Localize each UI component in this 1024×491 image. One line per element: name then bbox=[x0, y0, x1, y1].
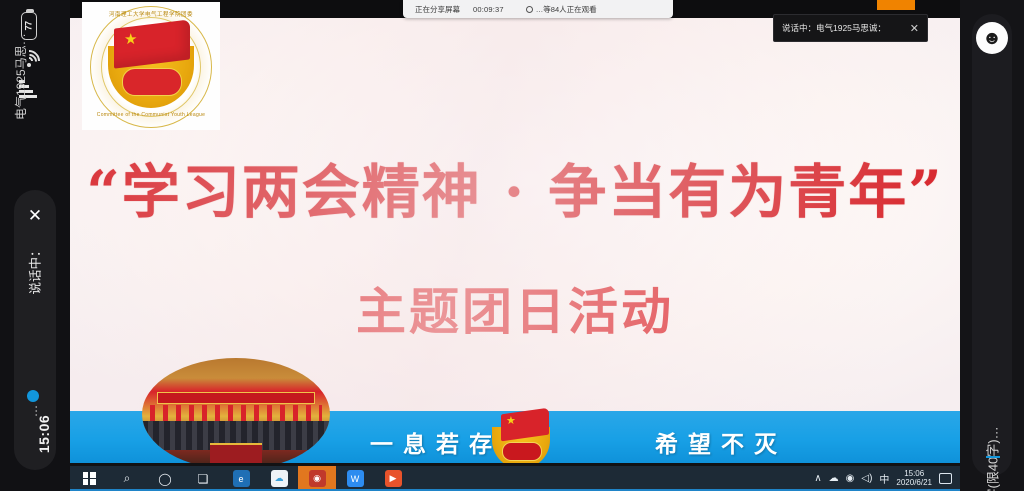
comment-right-sidebar: 输入文字(限40字)… ☻ bbox=[960, 0, 1024, 491]
windows-taskbar: ⌕ ◯ ❏ e ☁ ◉ W ▶ ∧ ☁ ◉ ◁) 中 15:06 2020/6/… bbox=[70, 466, 960, 491]
text-caret bbox=[986, 456, 1000, 458]
taskbar-app-player[interactable]: ▶ bbox=[374, 466, 412, 491]
speaker-name-label: 电气1925马思… bbox=[12, 0, 29, 120]
wechat-work-icon: W bbox=[347, 470, 364, 487]
cortana-icon: ◯ bbox=[158, 472, 171, 486]
phone-clock: 15:06 bbox=[36, 394, 52, 474]
emblem-chinese-text: 河南理工大学电气工程学院团委 bbox=[82, 10, 220, 18]
slide-main-title: “学习两会精神 · 争当有为青年” bbox=[70, 145, 960, 229]
chevron-up-icon[interactable]: ∧ bbox=[814, 473, 821, 484]
clock-date: 2020/6/21 bbox=[896, 479, 932, 488]
viewers-label: …等84人正在观看 bbox=[536, 4, 597, 15]
cloud-tray-icon[interactable]: ☁ bbox=[829, 473, 839, 484]
taskbar-app-cloud[interactable]: ☁ bbox=[260, 466, 298, 491]
share-elapsed-time: 00:09:37 bbox=[473, 5, 504, 14]
meeting-app-icon: ◉ bbox=[309, 470, 326, 487]
orange-indicator-tab bbox=[877, 0, 915, 10]
close-icon[interactable]: ✕ bbox=[910, 22, 919, 35]
task-view-icon: ❏ bbox=[198, 472, 209, 486]
viewers-count: …等84人正在观看 bbox=[526, 4, 597, 15]
screen-share-status-bar[interactable]: 正在分享屏幕 00:09:37 …等84人正在观看 bbox=[403, 0, 673, 18]
slide-subtitle: 主题团日活动 bbox=[70, 272, 960, 344]
comment-input-pill[interactable]: 输入文字(限40字)… bbox=[972, 14, 1012, 476]
notification-icon[interactable] bbox=[939, 473, 952, 484]
browser-icon: e bbox=[233, 470, 250, 487]
search-icon: ⌕ bbox=[124, 471, 131, 486]
taskbar-items: ⌕ ◯ ❏ e ☁ ◉ W ▶ bbox=[70, 466, 412, 491]
windows-logo-icon bbox=[83, 472, 96, 485]
close-icon[interactable]: ✕ bbox=[14, 198, 56, 234]
taskbar-app-browser[interactable]: e bbox=[222, 466, 260, 491]
taskbar-app-wechat-work[interactable]: W bbox=[336, 466, 374, 491]
shared-screen-stage: ★ 河南理工大学电气工程学院团委 Committee of the Commun… bbox=[70, 0, 960, 491]
taskbar-app-meeting[interactable]: ◉ bbox=[298, 466, 336, 491]
app-tray-icon[interactable]: ◉ bbox=[846, 473, 855, 484]
sharing-label: 正在分享屏幕 bbox=[415, 4, 460, 15]
comment-input-placeholder: 输入文字(限40字)… bbox=[983, 201, 1002, 491]
start-button[interactable] bbox=[70, 466, 108, 491]
emblem-english-text: Committee of the Communist Youth League bbox=[82, 112, 220, 118]
footer-slogan-right: 希望不灭 bbox=[655, 425, 787, 459]
cloud-icon: ☁ bbox=[271, 470, 288, 487]
ime-indicator[interactable]: 中 bbox=[879, 471, 889, 486]
toast-message: 说话中：电气1925马思诚： bbox=[782, 22, 886, 34]
footer-youth-league-badge-icon: ★ bbox=[490, 411, 552, 469]
task-view-button[interactable]: ❏ bbox=[184, 466, 222, 491]
system-tray: ∧ ☁ ◉ ◁) 中 15:06 2020/6/21 bbox=[814, 470, 960, 487]
communist-youth-league-emblem-icon: ★ 河南理工大学电气工程学院团委 Committee of the Commun… bbox=[82, 2, 220, 130]
footer-slogan-left: 一息若存 bbox=[370, 425, 502, 459]
volume-icon[interactable]: ◁) bbox=[861, 473, 872, 484]
screen-root: 77 ✕ 说话中： ⋯ 15:06 电气1925马思… bbox=[0, 0, 1024, 491]
emoji-smiley-icon[interactable]: ☻ bbox=[976, 22, 1008, 54]
search-button[interactable]: ⌕ bbox=[108, 466, 146, 491]
phone-left-sidebar: 77 ✕ 说话中： ⋯ 15:06 电气1925马思… bbox=[0, 0, 70, 491]
speaking-toast[interactable]: 说话中：电气1925马思诚： ✕ bbox=[773, 14, 928, 42]
conference-photo bbox=[142, 358, 330, 470]
player-icon: ▶ bbox=[385, 470, 402, 487]
speaking-indicator-panel[interactable]: ✕ 说话中： ⋯ 15:06 bbox=[14, 190, 56, 470]
cortana-button[interactable]: ◯ bbox=[146, 466, 184, 491]
presentation-slide: ★ 河南理工大学电气工程学院团委 Committee of the Commun… bbox=[70, 0, 960, 473]
taskbar-clock[interactable]: 15:06 2020/6/21 bbox=[896, 470, 932, 487]
eye-icon bbox=[526, 6, 533, 13]
